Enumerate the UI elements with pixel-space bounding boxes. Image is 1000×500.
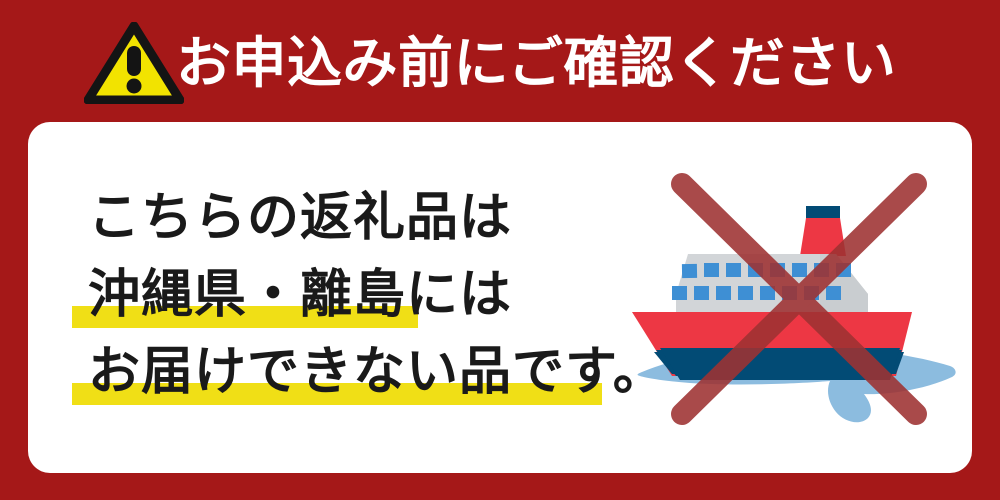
- notice-card: こちらの返礼品は 沖縄県・離島には お届けできない品です。: [28, 122, 972, 473]
- notice-line-text: 沖縄県・離島には: [72, 266, 512, 324]
- warning-triangle-icon: [84, 22, 184, 104]
- header-banner: お申込み前にご確認ください: [0, 0, 1000, 118]
- notice-line: 沖縄県・離島には: [72, 257, 632, 334]
- notice-text-block: こちらの返礼品は 沖縄県・離島には お届けできない品です。: [72, 180, 632, 411]
- notice-banner-screen: お申込み前にご確認ください こちらの返礼品は 沖縄県・離島には お届けできない品…: [0, 0, 1000, 500]
- notice-line-text: こちらの返礼品は: [72, 189, 512, 247]
- page-title: お申込み前にご確認ください: [176, 22, 976, 104]
- ferry-ship-prohibited-illustration: [624, 162, 964, 434]
- notice-line: こちらの返礼品は: [72, 180, 632, 257]
- notice-line: お届けできない品です。: [72, 334, 632, 411]
- notice-line-text: お届けできない品です。: [72, 343, 666, 401]
- funnel-cap: [806, 206, 840, 218]
